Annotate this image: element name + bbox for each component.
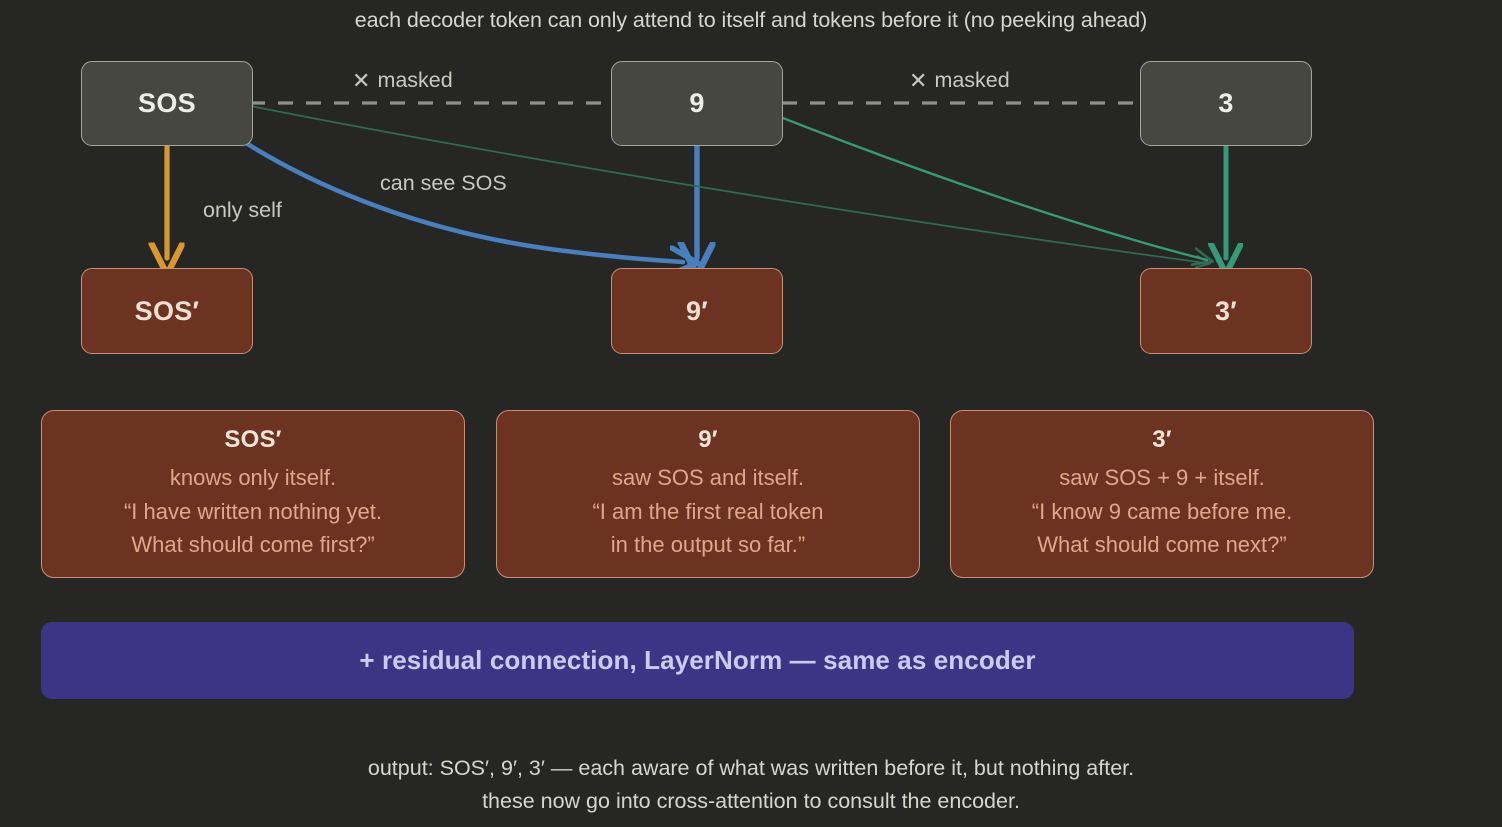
footer-caption-line-1: output: SOS′, 9′, 3′ — each aware of wha… — [0, 752, 1502, 785]
card-line: “I know 9 came before me. — [1032, 495, 1292, 529]
residual-connection-banner: + residual connection, LayerNorm — same … — [41, 622, 1354, 699]
cross-icon: ✕ — [909, 70, 927, 92]
output-token-sos-prime-label: SOS′ — [135, 296, 200, 327]
card-title: 9′ — [698, 426, 718, 454]
input-token-sos-label: SOS — [138, 88, 196, 119]
cross-icon: ✕ — [352, 70, 370, 92]
footer-caption: output: SOS′, 9′, 3′ — each aware of wha… — [0, 752, 1502, 818]
masked-label-9-3: ✕ masked — [909, 68, 1010, 93]
explanation-card-sos-prime: SOS′ knows only itself. “I have written … — [41, 410, 465, 578]
line-9-to-3-prime — [745, 103, 1207, 260]
output-token-sos-prime[interactable]: SOS′ — [81, 268, 253, 354]
card-line: saw SOS and itself. — [612, 461, 804, 495]
output-token-9-prime[interactable]: 9′ — [611, 268, 783, 354]
explanation-card-3-prime: 3′ saw SOS + 9 + itself. “I know 9 came … — [950, 410, 1374, 578]
masked-label-sos-9: ✕ masked — [352, 68, 453, 93]
input-token-9-label: 9 — [689, 88, 704, 119]
edge-label-only-self: only self — [203, 198, 282, 223]
edge-label-can-see-sos: can see SOS — [380, 171, 507, 196]
footer-caption-line-2: these now go into cross-attention to con… — [0, 785, 1502, 818]
input-token-9[interactable]: 9 — [611, 61, 783, 146]
card-line: “I am the first real token — [592, 495, 823, 529]
output-token-3-prime-label: 3′ — [1215, 296, 1237, 327]
masked-label-text: masked — [377, 68, 452, 93]
masked-label-text: masked — [934, 68, 1009, 93]
output-token-9-prime-label: 9′ — [686, 296, 708, 327]
card-title: 3′ — [1152, 426, 1172, 454]
card-line: “I have written nothing yet. — [124, 495, 382, 529]
residual-connection-banner-label: + residual connection, LayerNorm — same … — [359, 645, 1035, 676]
explanation-card-9-prime: 9′ saw SOS and itself. “I am the first r… — [496, 410, 920, 578]
card-title: SOS′ — [224, 426, 281, 454]
page-title: each decoder token can only attend to it… — [0, 8, 1502, 33]
input-token-3-label: 3 — [1218, 88, 1233, 119]
input-token-sos[interactable]: SOS — [81, 61, 253, 146]
card-line: in the output so far.” — [611, 528, 805, 562]
input-token-3[interactable]: 3 — [1140, 61, 1312, 146]
card-line: What should come first?” — [131, 528, 374, 562]
card-line: What should come next?” — [1037, 528, 1286, 562]
card-line: saw SOS + 9 + itself. — [1059, 461, 1264, 495]
diagram-canvas: each decoder token can only attend to it… — [0, 0, 1502, 827]
card-line: knows only itself. — [170, 461, 336, 495]
output-token-3-prime[interactable]: 3′ — [1140, 268, 1312, 354]
